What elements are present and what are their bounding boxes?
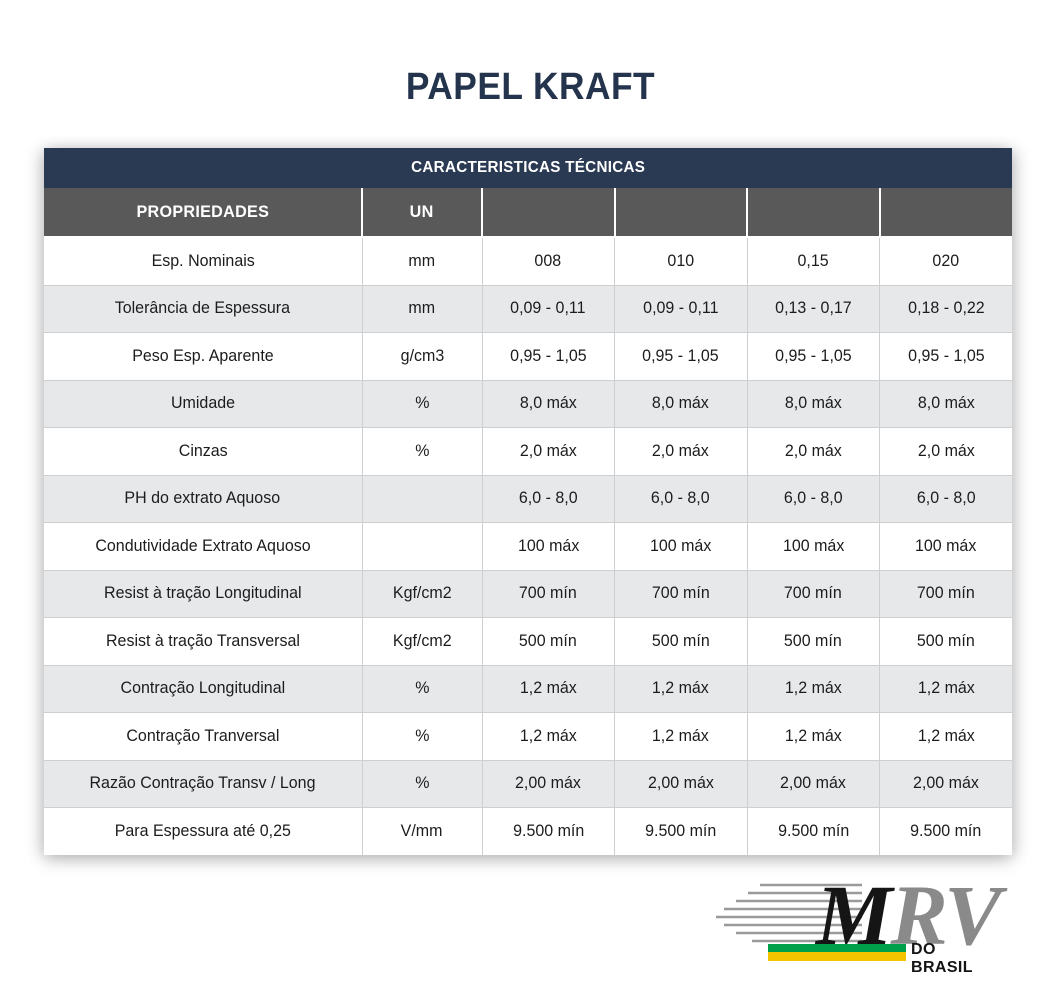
table-row: Contração Tranversal%1,2 máx1,2 máx1,2 m… [44,713,1012,761]
cell-value-2: 0,09 - 0,11 [615,285,748,333]
cell-value-3: 500 mín [747,618,880,666]
technical-characteristics-table: CARACTERISTICAS TÉCNICAS PROPRIEDADES UN… [44,148,1012,855]
table-banner-title: CARACTERISTICAS TÉCNICAS [44,148,1012,188]
table-row: Resist à tração LongitudinalKgf/cm2700 m… [44,570,1012,618]
cell-value-2: 6,0 - 8,0 [615,475,748,523]
cell-value-3: 700 mín [747,570,880,618]
cell-unit: Kgf/cm2 [362,570,482,618]
cell-value-3: 9.500 mín [747,808,880,855]
cell-unit [362,475,482,523]
cell-value-4: 1,2 máx [880,713,1013,761]
cell-property: Razão Contração Transv / Long [44,760,362,808]
table-head: CARACTERISTICAS TÉCNICAS PROPRIEDADES UN [44,148,1012,237]
column-header-un: UN [362,188,482,237]
cell-value-2: 2,00 máx [615,760,748,808]
table-banner-row: CARACTERISTICAS TÉCNICAS [44,148,1012,188]
column-header-value-4 [880,188,1013,237]
cell-value-4: 020 [880,237,1013,285]
cell-value-1: 2,00 máx [482,760,615,808]
cell-value-4: 6,0 - 8,0 [880,475,1013,523]
cell-value-1: 008 [482,237,615,285]
column-header-propriedades: PROPRIEDADES [44,188,362,237]
cell-value-3: 1,2 máx [747,713,880,761]
cell-value-1: 0,95 - 1,05 [482,333,615,381]
table-row: Esp. Nominaismm0080100,15020 [44,237,1012,285]
table-row: Para Espessura até 0,25V/mm9.500 mín9.50… [44,808,1012,855]
cell-property: Umidade [44,380,362,428]
cell-property: Condutividade Extrato Aquoso [44,523,362,571]
cell-value-1: 100 máx [482,523,615,571]
cell-value-1: 500 mín [482,618,615,666]
cell-value-2: 500 mín [615,618,748,666]
table-header-row: PROPRIEDADES UN [44,188,1012,237]
cell-value-3: 100 máx [747,523,880,571]
table-row: Peso Esp. Aparenteg/cm30,95 - 1,050,95 -… [44,333,1012,381]
cell-property: Peso Esp. Aparente [44,333,362,381]
cell-value-4: 700 mín [880,570,1013,618]
cell-value-2: 700 mín [615,570,748,618]
cell-property: Contração Longitudinal [44,665,362,713]
table-row: Cinzas%2,0 máx2,0 máx2,0 máx2,0 máx [44,428,1012,476]
cell-value-4: 100 máx [880,523,1013,571]
cell-value-3: 8,0 máx [747,380,880,428]
cell-property: Resist à tração Longitudinal [44,570,362,618]
cell-value-1: 1,2 máx [482,665,615,713]
cell-value-3: 0,13 - 0,17 [747,285,880,333]
cell-property: PH do extrato Aquoso [44,475,362,523]
cell-value-1: 9.500 mín [482,808,615,855]
cell-property: Tolerância de Espessura [44,285,362,333]
cell-value-3: 2,0 máx [747,428,880,476]
column-header-value-2 [615,188,748,237]
cell-property: Cinzas [44,428,362,476]
cell-property: Para Espessura até 0,25 [44,808,362,855]
cell-value-3: 0,95 - 1,05 [747,333,880,381]
cell-value-2: 1,2 máx [615,665,748,713]
cell-value-3: 6,0 - 8,0 [747,475,880,523]
table-row: Condutividade Extrato Aquoso100 máx100 m… [44,523,1012,571]
brazil-green-bar [768,944,906,952]
brazil-yellow-bar [768,952,906,961]
cell-unit: mm [362,237,482,285]
cell-unit [362,523,482,571]
cell-value-4: 0,18 - 0,22 [880,285,1013,333]
cell-unit: Kgf/cm2 [362,618,482,666]
cell-value-4: 500 mín [880,618,1013,666]
cell-value-4: 0,95 - 1,05 [880,333,1013,381]
cell-value-2: 0,95 - 1,05 [615,333,748,381]
cell-value-4: 2,00 máx [880,760,1013,808]
page-title: PAPEL KRAFT [37,0,1024,109]
cell-value-1: 8,0 máx [482,380,615,428]
cell-unit: % [362,713,482,761]
cell-unit: V/mm [362,808,482,855]
cell-value-3: 1,2 máx [747,665,880,713]
cell-unit: % [362,665,482,713]
cell-value-2: 8,0 máx [615,380,748,428]
mrv-logo: MRV DO BRASIL [712,878,980,968]
cell-value-4: 1,2 máx [880,665,1013,713]
table-row: Contração Longitudinal%1,2 máx1,2 máx1,2… [44,665,1012,713]
cell-unit: mm [362,285,482,333]
column-header-value-1 [482,188,615,237]
logo-subtitle: DO BRASIL [911,941,980,977]
cell-value-4: 2,0 máx [880,428,1013,476]
cell-value-1: 1,2 máx [482,713,615,761]
cell-value-4: 8,0 máx [880,380,1013,428]
cell-unit: % [362,760,482,808]
cell-value-2: 010 [615,237,748,285]
cell-value-1: 0,09 - 0,11 [482,285,615,333]
spec-table-container: CARACTERISTICAS TÉCNICAS PROPRIEDADES UN… [44,148,1012,855]
cell-value-4: 9.500 mín [880,808,1013,855]
cell-property: Contração Tranversal [44,713,362,761]
cell-value-2: 9.500 mín [615,808,748,855]
column-header-value-3 [747,188,880,237]
cell-value-1: 700 mín [482,570,615,618]
cell-unit: % [362,380,482,428]
cell-value-2: 1,2 máx [615,713,748,761]
table-row: PH do extrato Aquoso6,0 - 8,06,0 - 8,06,… [44,475,1012,523]
cell-value-2: 100 máx [615,523,748,571]
table-body: Esp. Nominaismm0080100,15020Tolerância d… [44,237,1012,855]
cell-value-1: 6,0 - 8,0 [482,475,615,523]
cell-value-1: 2,0 máx [482,428,615,476]
cell-unit: % [362,428,482,476]
cell-unit: g/cm3 [362,333,482,381]
cell-property: Esp. Nominais [44,237,362,285]
table-row: Razão Contração Transv / Long%2,00 máx2,… [44,760,1012,808]
cell-value-3: 2,00 máx [747,760,880,808]
cell-value-2: 2,0 máx [615,428,748,476]
table-row: Resist à tração TransversalKgf/cm2500 mí… [44,618,1012,666]
cell-property: Resist à tração Transversal [44,618,362,666]
table-row: Umidade%8,0 máx8,0 máx8,0 máx8,0 máx [44,380,1012,428]
cell-value-3: 0,15 [747,237,880,285]
table-row: Tolerância de Espessuramm0,09 - 0,110,09… [44,285,1012,333]
